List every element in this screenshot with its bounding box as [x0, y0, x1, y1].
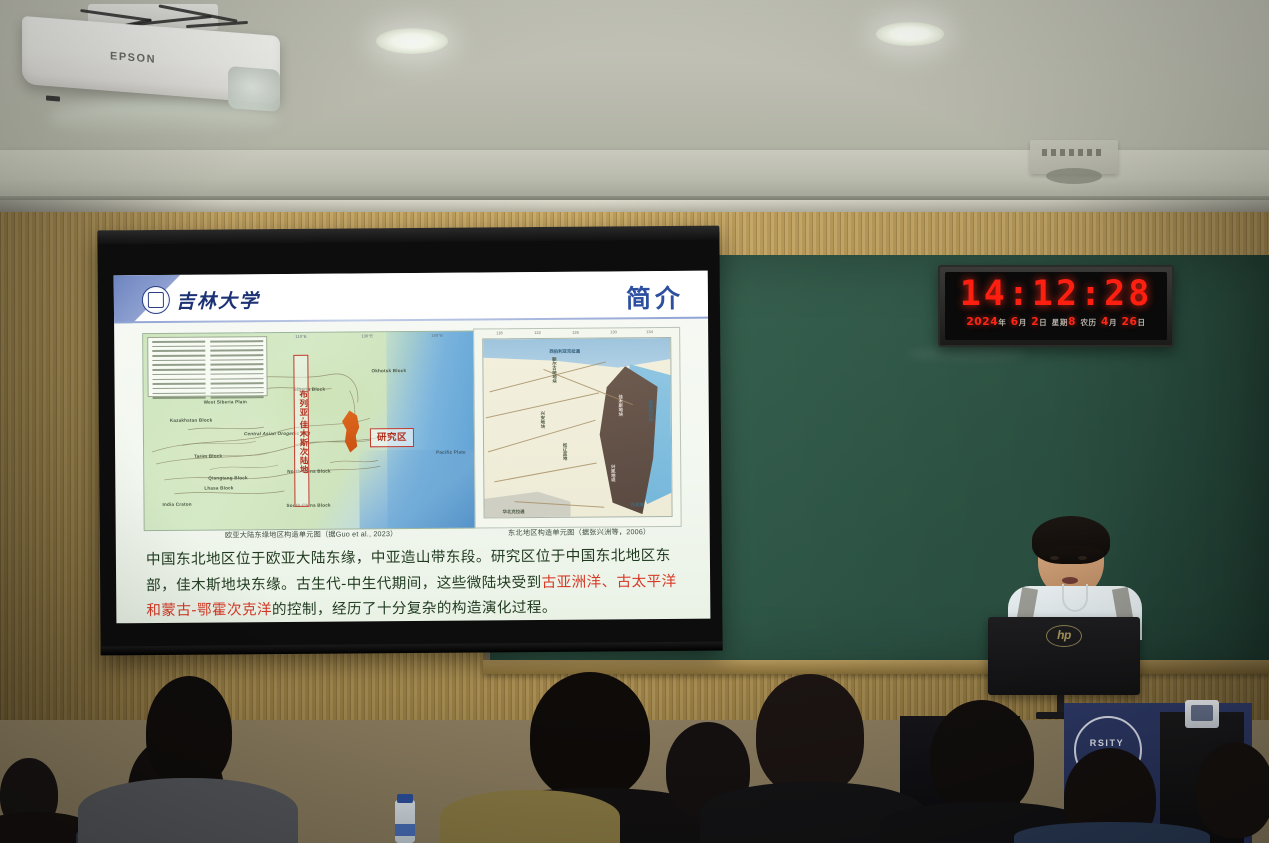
clock-lunar-prefix: 农历: [1080, 318, 1096, 327]
header-rule: [114, 317, 708, 324]
clock-year-unit: 年: [998, 318, 1006, 327]
map-label-india-craton: India Craton: [162, 502, 191, 507]
university-seal-icon: [142, 286, 170, 314]
lecture-hall-photo: EPSON 吉林大学 简介: [0, 0, 1269, 843]
presenter-mouth: [1062, 577, 1078, 584]
presenter-hair: [1032, 516, 1110, 564]
left-tectonic-map: West Siberia Plain Siberia Block Kazakhs…: [142, 330, 481, 531]
rmap-label-xingan: 兴安地块: [540, 411, 546, 429]
map-label-qiangtang: Qiangtang Block: [208, 475, 248, 480]
rmap-label-erguna: 额尔古纳地块: [551, 357, 557, 383]
right-map-caption: 东北地区构造单元图（据张兴洲等，2006）: [477, 527, 682, 539]
map-label-pacific-plate: Pacific Plate: [436, 450, 466, 455]
audience-head-7: [930, 700, 1034, 816]
projector-port: [46, 95, 60, 101]
map-label-tarim: Tarim Block: [194, 453, 222, 458]
clock-day: 2: [1031, 316, 1039, 328]
rmap-label-sea-of-japan: 日本海: [630, 502, 643, 508]
map-label-lhasa: Lhasa Block: [204, 485, 233, 490]
audience-shoulders-3: [78, 778, 298, 843]
rmap-tick-126: 126: [572, 330, 579, 335]
bottle-cap: [397, 794, 413, 803]
rmap-label-songliao: 松辽盆地: [562, 443, 568, 461]
university-name: 吉林大学: [176, 286, 260, 314]
clock-month-unit: 月: [1019, 318, 1027, 327]
audience-head-4: [530, 672, 650, 800]
left-map-caption: 欧亚大陆东缘地区构造单元图（据Guo et al., 2023）: [144, 528, 479, 541]
map-label-kazakhstan: Kazakhstan Block: [170, 418, 213, 423]
slide-body-text: 中国东北地区位于欧亚大陆东缘，中亚造山带东段。研究区位于中国东北地区东部，佳木斯…: [146, 543, 687, 623]
bureya-jiamusi-label: 布列亚-佳木斯次陆地: [293, 355, 309, 507]
clock-weekday-prefix: 星期: [1052, 318, 1068, 327]
legend-column-left: [150, 341, 205, 402]
body-segment-3: 的控制，经历了十分复杂的构造演化过程。: [272, 599, 557, 618]
clock-display: 14:12:28 2024年 6月 2日 星期8 农历 4月 26日: [945, 272, 1167, 340]
clock-date-row: 2024年 6月 2日 星期8 农历 4月 26日: [945, 316, 1167, 328]
clock-lunar-month: 4: [1101, 316, 1109, 328]
audience-shoulders-5: [440, 790, 620, 843]
projection-screen: 吉林大学 简介: [97, 226, 722, 655]
rmap-label-siberian-craton: 西伯利亚克拉通: [549, 349, 580, 355]
rmap-label-north-china-craton: 华北克拉通: [503, 509, 525, 515]
audience-shoulders-8: [1014, 822, 1210, 843]
study-area-callout: 研究区: [370, 428, 414, 447]
audience-head-9: [1196, 742, 1269, 838]
map-legend: [147, 336, 267, 397]
clock-lunar-day-unit: 日: [1137, 318, 1145, 327]
ceiling-light-left: [376, 28, 448, 54]
audience-head-3: [146, 676, 232, 788]
map-label-west-siberia: West Siberia Plain: [204, 399, 247, 404]
clock-month: 6: [1011, 316, 1019, 328]
desk-cup: [1185, 700, 1219, 728]
map-tick-130e: 130°E: [361, 333, 373, 338]
ceiling-projector: EPSON: [18, 4, 286, 122]
presenter: [1012, 520, 1130, 630]
presenter-eye-right: [1078, 556, 1087, 560]
clock-year: 2024: [966, 316, 998, 328]
presenter-lanyard: [1062, 584, 1088, 612]
rmap-tick-130: 130: [610, 329, 617, 334]
map-label-okhotsk: Okhotsk Block: [371, 368, 406, 373]
podium-banner-text: RSITY: [1070, 738, 1144, 748]
rmap-tick-134: 134: [646, 329, 653, 334]
right-map-frame: 额尔古纳地块 兴安地块 松辽盆地 佳木斯地块 兴凯地块 锡霍特阿林 日本海 华北…: [482, 337, 672, 518]
hp-logo-icon: hp: [1046, 625, 1082, 647]
presenter-eye-left: [1050, 556, 1059, 560]
rmap-label-jiamusi: 佳木斯地块: [618, 394, 624, 416]
slide-title: 简介: [626, 279, 684, 315]
bottle-label: [395, 824, 415, 836]
clock-lunar-month-unit: 月: [1109, 318, 1117, 327]
ceiling-light-right: [876, 22, 944, 46]
clock-day-unit: 日: [1039, 318, 1047, 327]
water-bottle: [395, 800, 415, 843]
ceiling-speaker: [1046, 168, 1102, 184]
projector-light-beam: [48, 100, 278, 136]
computer-monitor[interactable]: hp: [988, 617, 1140, 695]
rmap-tick-118: 118: [496, 330, 502, 335]
clock-time: 14:12:28: [945, 275, 1167, 313]
clock-lunar-day: 26: [1122, 316, 1138, 328]
presentation-slide: 吉林大学 简介: [114, 271, 711, 624]
rmap-tick-122: 122: [534, 330, 541, 335]
digital-wall-clock: 14:12:28 2024年 6月 2日 星期8 农历 4月 26日: [938, 265, 1174, 347]
rmap-label-sikhote: 锡霍特阿林: [648, 400, 654, 422]
legend-column-right: [208, 340, 263, 401]
rmap-label-xingkai: 兴凯地块: [610, 464, 616, 482]
audience-head-6: [756, 674, 864, 796]
clock-weekday: 8: [1068, 316, 1076, 328]
right-tectonic-map: 额尔古纳地块 兴安地块 松辽盆地 佳木斯地块 兴凯地块 锡霍特阿林 日本海 华北…: [473, 327, 682, 529]
map-tick-110e: 110°E: [295, 334, 307, 339]
slide-header: 吉林大学 简介: [114, 271, 708, 324]
map-tick-150e: 150°E: [431, 333, 443, 338]
